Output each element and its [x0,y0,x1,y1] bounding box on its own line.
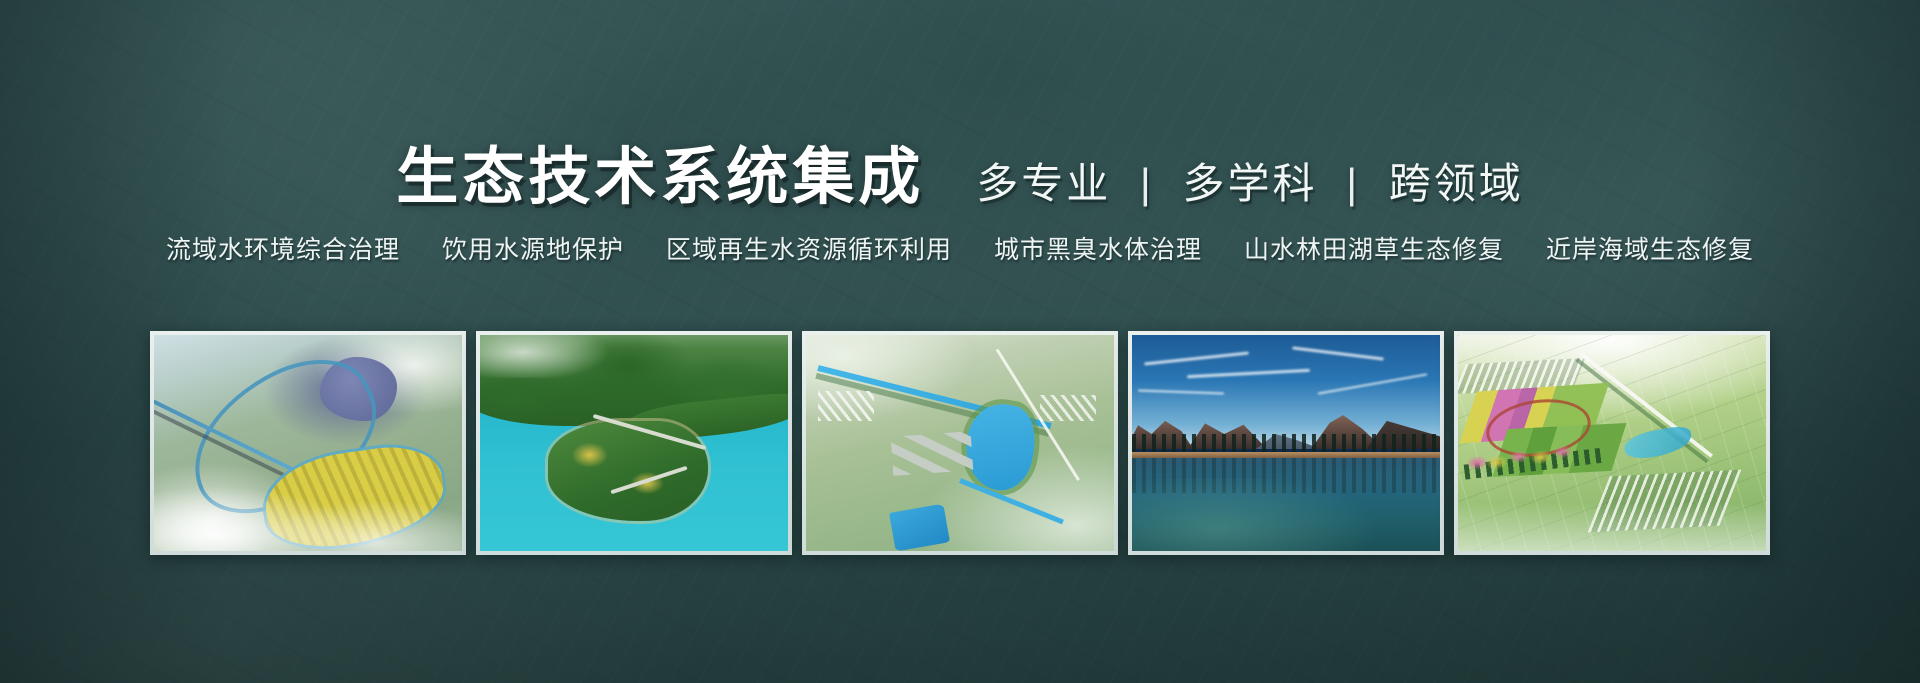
artwork-basin [154,335,462,551]
banner-content: 生态技术系统集成 多专业 | 多学科 | 跨领域 流域水环境综合治理 饮用水源地… [0,0,1920,683]
page-title: 生态技术系统集成 [396,126,924,216]
thumbnail-image-river-corridor [806,335,1114,551]
artwork-bottom-haze [1458,503,1766,551]
thumbnail-item-1[interactable] [150,331,466,555]
subtitle: 多专业 | 多学科 | 跨领域 [976,150,1524,211]
artwork-pond [889,503,950,551]
thumbnail-item-2[interactable] [476,331,792,555]
thumbnail-item-4[interactable] [1128,331,1444,555]
artwork-corridor [806,335,1114,551]
thumbnail-image-lake-island [480,335,788,551]
keyword-item-2[interactable]: 饮用水源地保护 [421,230,645,266]
thumbnail-image-farmland [1458,335,1766,551]
keyword-item-4[interactable]: 城市黑臭水体治理 [973,230,1223,266]
thumbnail-gallery [0,331,1920,555]
hero-banner: 生态技术系统集成 多专业 | 多学科 | 跨领域 流域水环境综合治理 饮用水源地… [0,0,1920,683]
artwork-island [548,421,708,520]
keyword-item-3[interactable]: 区域再生水资源循环利用 [645,230,973,266]
artwork-lake-shore [1132,452,1440,458]
keyword-item-5[interactable]: 山水林田湖草生态修复 [1223,230,1525,266]
artwork-lake [480,335,788,551]
artwork-village-right [1040,395,1095,421]
keyword-item-6[interactable]: 近岸海域生态修复 [1525,230,1775,266]
keyword-list: 流域水环境综合治理 饮用水源地保护 区域再生水资源循环利用 城市黑臭水体治理 山… [0,230,1920,266]
artwork-greenhouses [891,432,974,476]
subtitle-separator-2: | [1332,160,1374,207]
thumbnail-item-5[interactable] [1454,331,1770,555]
artwork-village-left [818,391,873,421]
artwork-mountain [1132,335,1440,551]
artwork-cloud-haze [154,335,462,551]
subtitle-part-1: 多专业 [976,160,1111,207]
artwork-mist [480,335,622,378]
artwork-farmland [1458,335,1766,551]
subtitle-part-2: 多学科 [1183,160,1318,207]
subtitle-part-3: 跨领域 [1389,160,1524,207]
subtitle-separator-1: | [1126,160,1168,207]
keyword-item-1[interactable]: 流域水环境综合治理 [145,230,421,266]
thumbnail-image-basin-plan [154,335,462,551]
thumbnail-image-mountain-lake [1132,335,1440,551]
thumbnail-item-3[interactable] [802,331,1118,555]
headline-row: 生态技术系统集成 多专业 | 多学科 | 跨领域 [0,126,1920,216]
artwork-water-shine [1132,478,1440,551]
